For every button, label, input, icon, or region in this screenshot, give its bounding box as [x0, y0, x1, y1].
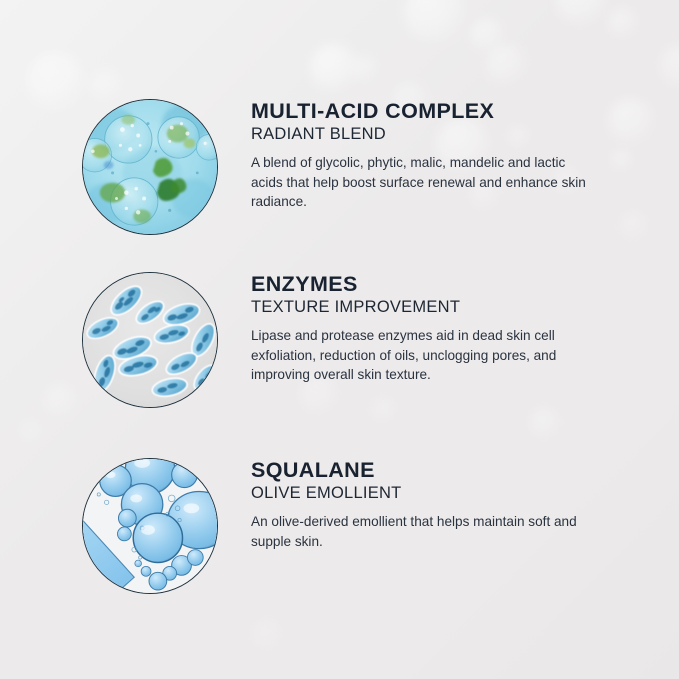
- text-multi-acid-complex: MULTI-ACID COMPLEX RADIANT BLEND A blend…: [251, 99, 679, 212]
- enzyme-cells-circle-image: [82, 272, 218, 408]
- background-bubble: [310, 44, 358, 92]
- oil-bubbles-circle-image: [82, 458, 218, 594]
- background-bubble: [660, 44, 679, 88]
- media-enzymes: [82, 272, 218, 408]
- section-subtitle: TEXTURE IMPROVEMENT: [251, 298, 679, 317]
- media-multi-acid-complex: [82, 99, 218, 235]
- section-title: MULTI-ACID COMPLEX: [251, 100, 679, 123]
- ingredient-section-multi-acid-complex: MULTI-ACID COMPLEX RADIANT BLEND A blend…: [0, 99, 679, 235]
- background-bubble: [90, 70, 122, 102]
- background-bubble: [486, 44, 526, 84]
- background-bubble: [530, 408, 560, 438]
- background-bubble: [404, 0, 466, 44]
- background-bubble: [470, 18, 504, 52]
- section-description: Lipase and protease enzymes aid in dead …: [251, 326, 586, 384]
- ingredient-section-enzymes: ENZYMES TEXTURE IMPROVEMENT Lipase and p…: [0, 272, 679, 408]
- background-bubble: [20, 420, 44, 444]
- ingredient-benefits-page: MULTI-ACID COMPLEX RADIANT BLEND A blend…: [0, 0, 679, 679]
- section-subtitle: RADIANT BLEND: [251, 125, 679, 144]
- section-description: A blend of glycolic, phytic, malic, mand…: [251, 153, 586, 211]
- text-enzymes: ENZYMES TEXTURE IMPROVEMENT Lipase and p…: [251, 272, 679, 385]
- ingredient-section-squalane: SQUALANE OLIVE EMOLLIENT An olive-derive…: [0, 458, 679, 594]
- section-title: SQUALANE: [251, 459, 679, 482]
- text-squalane: SQUALANE OLIVE EMOLLIENT An olive-derive…: [251, 458, 679, 551]
- microscope-cells-circle-image: [82, 99, 218, 235]
- background-bubble: [252, 620, 282, 650]
- section-description: An olive-derived emollient that helps ma…: [251, 512, 586, 551]
- section-subtitle: OLIVE EMOLLIENT: [251, 484, 679, 503]
- background-bubble: [352, 56, 378, 82]
- background-bubble: [556, 0, 608, 26]
- media-squalane: [82, 458, 218, 594]
- section-title: ENZYMES: [251, 273, 679, 296]
- background-bubble: [608, 8, 638, 38]
